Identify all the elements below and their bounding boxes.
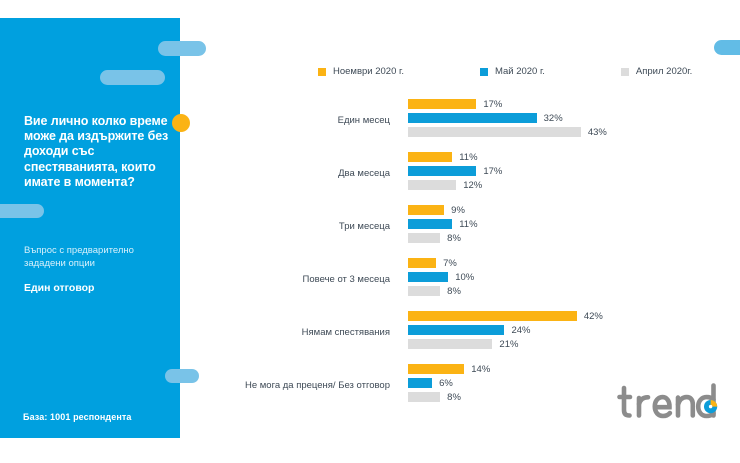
legend-swatch-icon (318, 68, 326, 76)
bar[interactable] (408, 99, 476, 109)
bar-value-label: 11% (459, 219, 477, 230)
bar-stack: 9%11%8% (408, 205, 478, 247)
category-label: Един месец (180, 115, 390, 126)
legend-swatch-icon (621, 68, 629, 76)
decorative-pill-b (100, 70, 165, 85)
bar[interactable] (408, 233, 440, 243)
category-label: Нямам спестявания (180, 327, 390, 338)
bar-value-label: 10% (455, 272, 474, 283)
bar[interactable] (408, 127, 581, 137)
legend-item[interactable]: Ноември 2020 г. (318, 66, 404, 77)
bar-value-label: 17% (483, 166, 502, 177)
bar-group: Нямам спестявания42%24%21% (0, 311, 740, 358)
legend-label: Ноември 2020 г. (333, 66, 404, 77)
bar-stack: 11%17%12% (408, 152, 502, 194)
legend-item[interactable]: Април 2020г. (621, 66, 692, 77)
bar-value-label: 43% (588, 127, 607, 138)
bar-value-label: 12% (463, 180, 482, 191)
bar-group: Два месеца11%17%12% (0, 152, 740, 199)
bar[interactable] (408, 113, 537, 123)
bar[interactable] (408, 272, 448, 282)
bar[interactable] (408, 152, 452, 162)
bar-stack: 42%24%21% (408, 311, 603, 353)
bar[interactable] (408, 339, 492, 349)
bar-row[interactable]: 9% (408, 205, 478, 215)
decorative-pill-a (158, 41, 206, 56)
bar-value-label: 7% (443, 258, 457, 269)
bar-value-label: 14% (471, 364, 490, 375)
bar-value-label: 9% (451, 205, 465, 216)
category-label: Два месеца (180, 168, 390, 179)
bar-value-label: 8% (447, 233, 461, 244)
bar-row[interactable]: 7% (408, 258, 474, 268)
bar-row[interactable]: 10% (408, 272, 474, 282)
bar-row[interactable]: 24% (408, 325, 603, 335)
logo-pie-mark (704, 400, 717, 413)
category-label: Повече от 3 месеца (180, 274, 390, 285)
bar-row[interactable]: 17% (408, 99, 607, 109)
bar[interactable] (408, 392, 440, 402)
category-label: Три месеца (180, 221, 390, 232)
bar-row[interactable]: 43% (408, 127, 607, 137)
bar-value-label: 17% (483, 99, 502, 110)
trend-logo (617, 382, 721, 426)
bar-row[interactable]: 11% (408, 219, 478, 229)
bar-row[interactable]: 12% (408, 180, 502, 190)
bar-stack: 17%32%43% (408, 99, 607, 141)
legend-swatch-icon (480, 68, 488, 76)
bar[interactable] (408, 258, 436, 268)
slide-canvas: Вие лично колко време може да издържите … (0, 0, 740, 463)
bar-row[interactable]: 17% (408, 166, 502, 176)
chart-plot-area: Един месец17%32%43%Два месеца11%17%12%Тр… (0, 99, 740, 417)
bar-row[interactable]: 21% (408, 339, 603, 349)
bar[interactable] (408, 205, 444, 215)
bar[interactable] (408, 166, 476, 176)
bar-row[interactable]: 8% (408, 233, 478, 243)
decorative-pill-top-right (714, 40, 740, 55)
bar[interactable] (408, 325, 504, 335)
bar-value-label: 24% (511, 325, 530, 336)
legend-label: Май 2020 г. (495, 66, 545, 77)
bar-stack: 7%10%8% (408, 258, 474, 300)
bar-row[interactable]: 8% (408, 286, 474, 296)
bar-value-label: 8% (447, 286, 461, 297)
bar[interactable] (408, 219, 452, 229)
bar-row[interactable]: 42% (408, 311, 603, 321)
bar-group: Един месец17%32%43% (0, 99, 740, 146)
legend-item[interactable]: Май 2020 г. (480, 66, 545, 77)
bar-value-label: 21% (499, 339, 518, 350)
bar-value-label: 6% (439, 378, 453, 389)
bar-value-label: 8% (447, 392, 461, 403)
bar-row[interactable]: 8% (408, 392, 490, 402)
bar-value-label: 11% (459, 152, 477, 163)
legend-label: Април 2020г. (636, 66, 692, 77)
bar-row[interactable]: 32% (408, 113, 607, 123)
bar[interactable] (408, 311, 577, 321)
category-label: Не мога да преценя/ Без отговор (180, 380, 390, 391)
bar-group: Повече от 3 месеца7%10%8% (0, 258, 740, 305)
chart-legend: Ноември 2020 г.Май 2020 г.Април 2020г. (318, 66, 692, 77)
bar[interactable] (408, 180, 456, 190)
bar-row[interactable]: 11% (408, 152, 502, 162)
bar-stack: 14%6%8% (408, 364, 490, 406)
bar[interactable] (408, 286, 440, 296)
bar-group: Три месеца9%11%8% (0, 205, 740, 252)
bar-value-label: 32% (544, 113, 563, 124)
bar-row[interactable]: 14% (408, 364, 490, 374)
bar[interactable] (408, 378, 432, 388)
bar-row[interactable]: 6% (408, 378, 490, 388)
bar-value-label: 42% (584, 311, 603, 322)
bar[interactable] (408, 364, 464, 374)
